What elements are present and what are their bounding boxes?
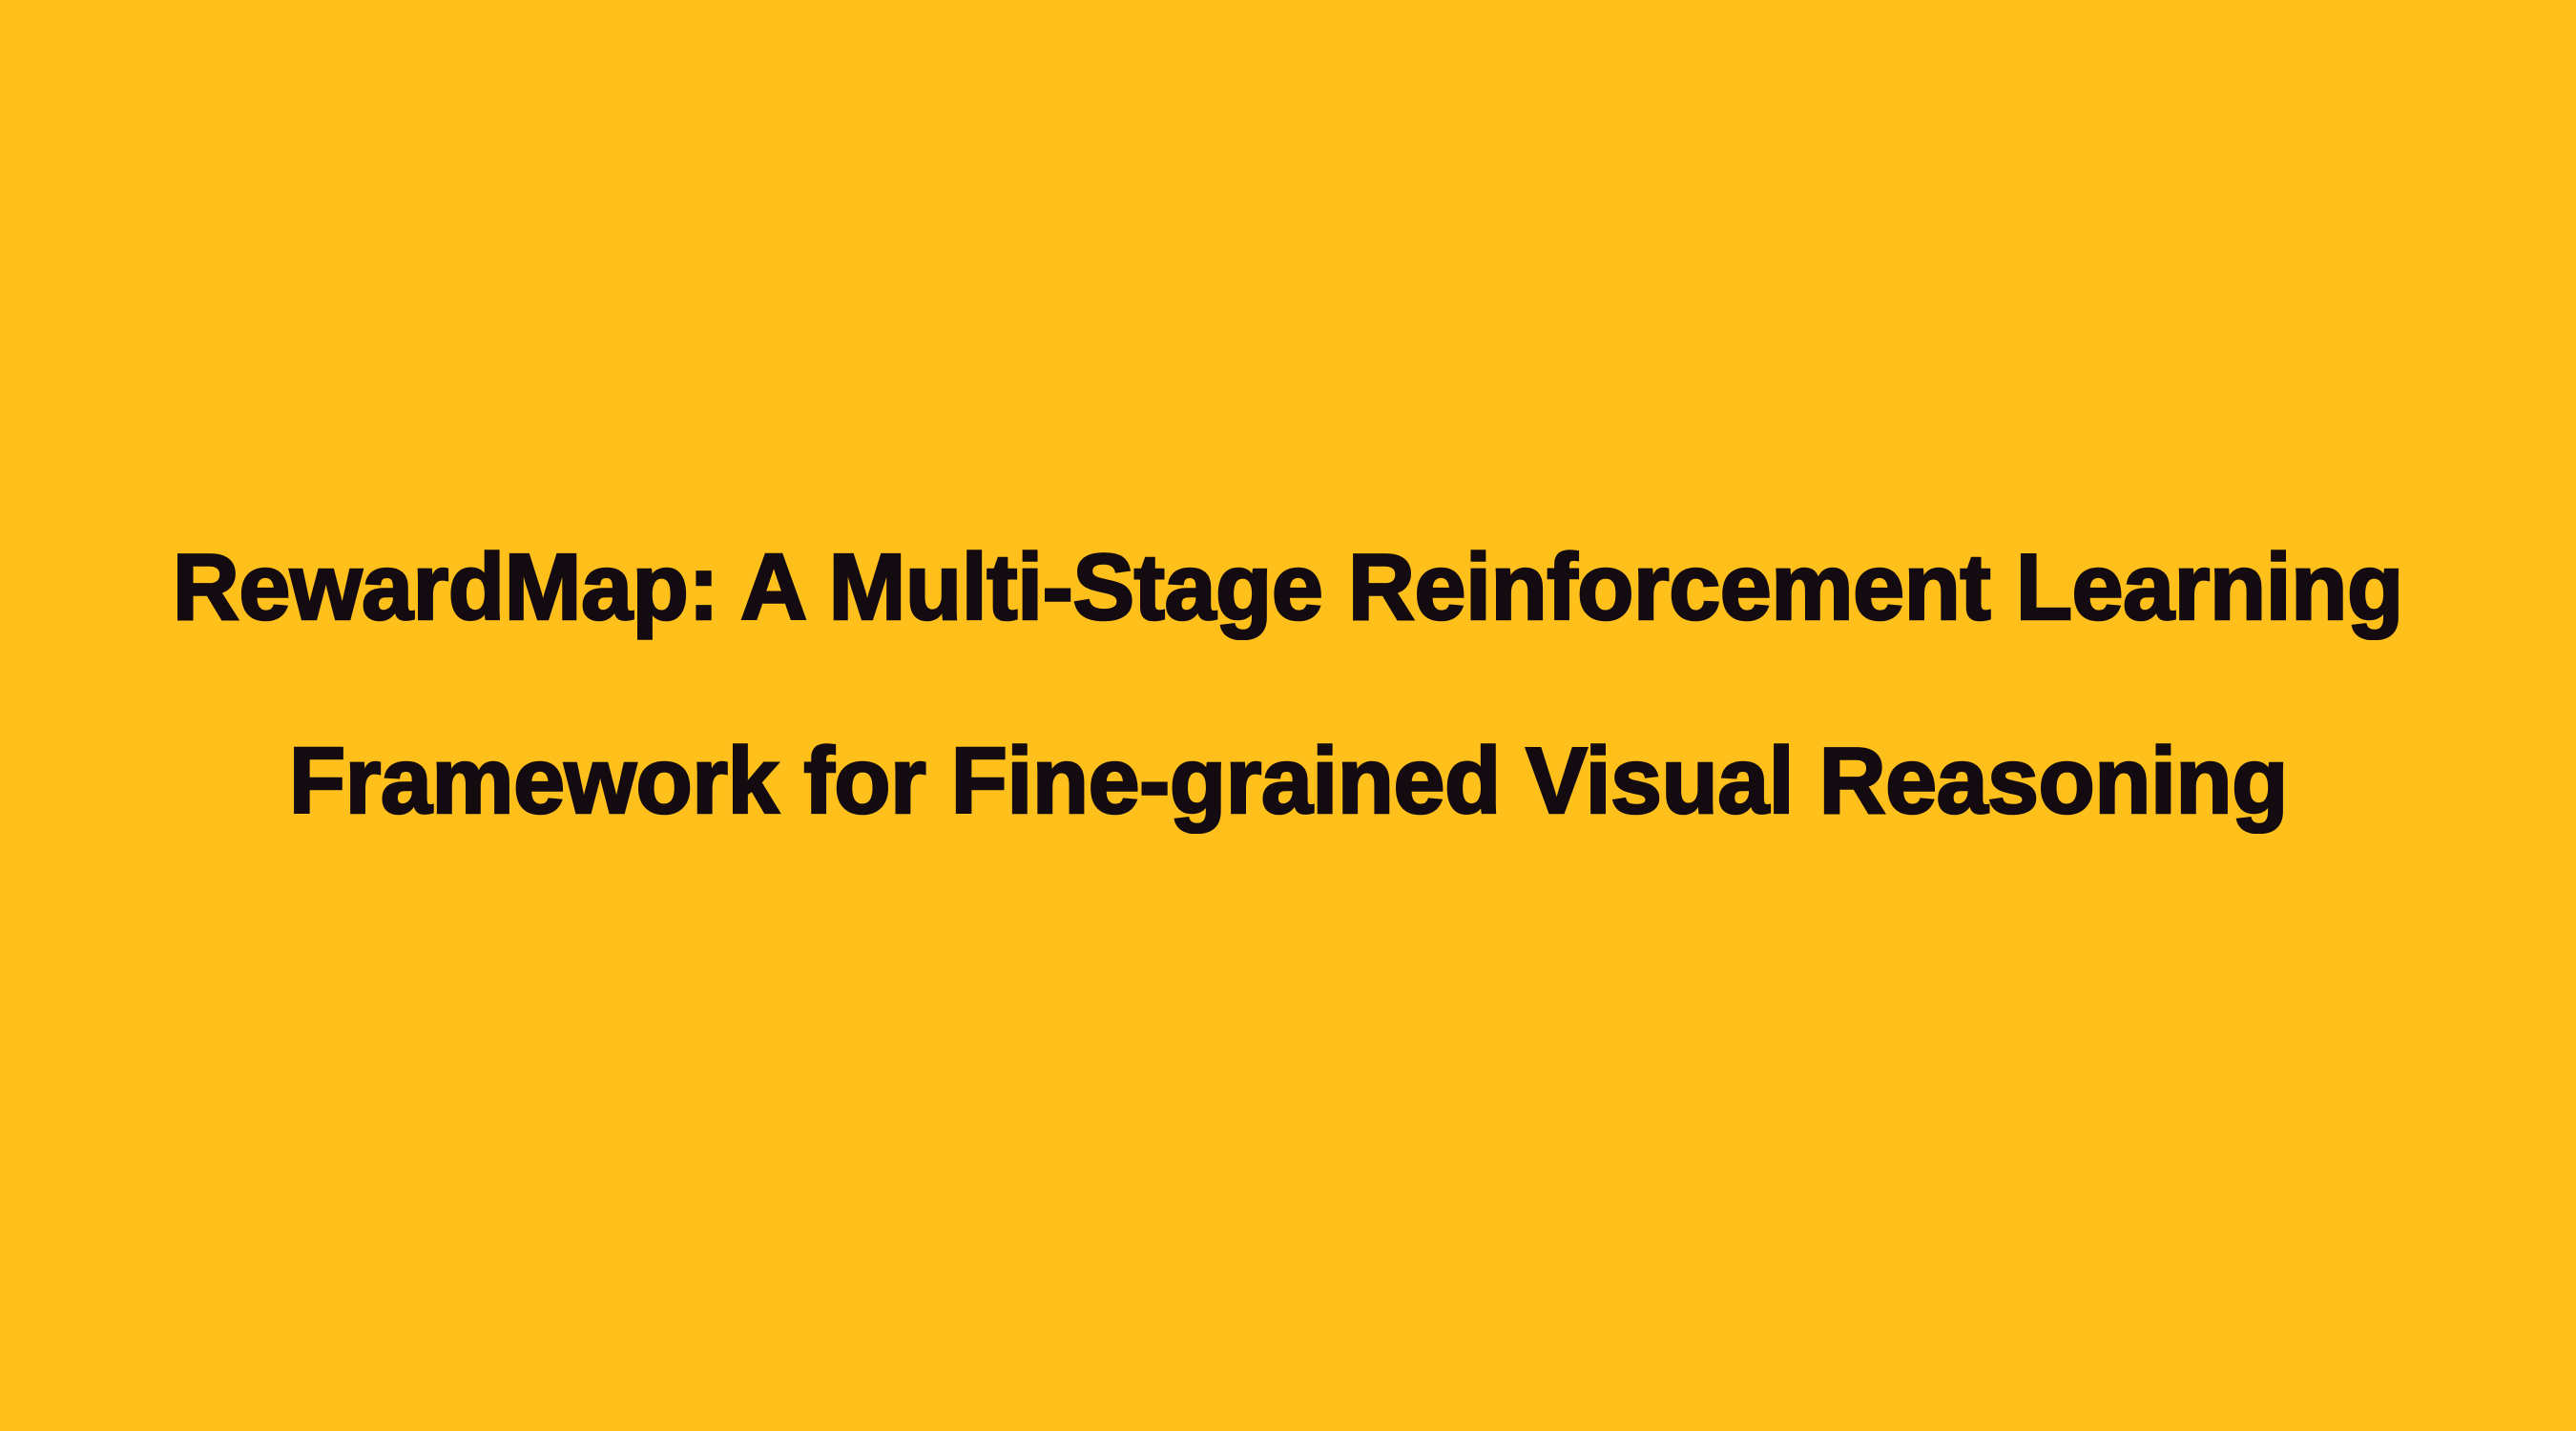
title-block: RewardMap: A Multi-Stage Reinforcement L… xyxy=(0,0,2576,1431)
page-title-line-2: Framework for Fine-grained Visual Reason… xyxy=(0,684,2576,878)
page-title-line-1: RewardMap: A Multi-Stage Reinforcement L… xyxy=(0,490,2576,684)
title-banner-card: RewardMap: A Multi-Stage Reinforcement L… xyxy=(0,0,2576,1431)
